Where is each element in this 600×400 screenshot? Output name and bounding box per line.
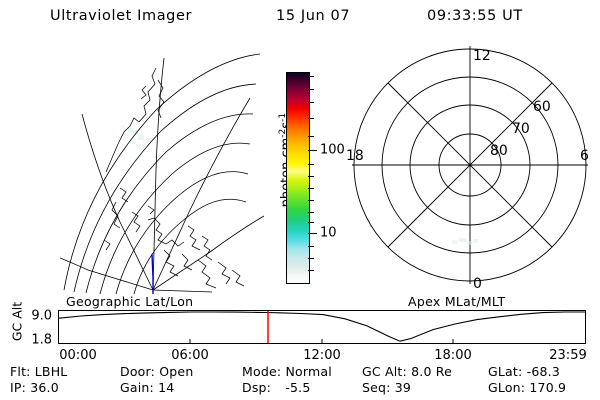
status-door-label: Door: <box>120 364 155 379</box>
status-dsp-value: -5.5 <box>285 380 310 395</box>
status-glat-value: -68.3 <box>527 364 560 379</box>
status-gain-label: Gain: <box>120 380 154 395</box>
status-door: Door: Open <box>120 364 193 379</box>
status-seq-value: 39 <box>395 380 411 395</box>
polar-aurora-pixels <box>452 238 478 245</box>
status-glon-label: GLon: <box>488 380 525 395</box>
status-gc-alt-label: GC Alt: <box>362 364 407 379</box>
orbit-plot-frame[interactable] <box>58 310 586 344</box>
colorbar-tick-minor <box>308 136 314 137</box>
colorbar-tick-minor <box>308 246 314 247</box>
colorbar-tick-minor <box>308 188 314 189</box>
status-gain-value: 14 <box>158 380 174 395</box>
polar-grid: 12 6 0 18 60 70 80 <box>340 40 600 295</box>
orbit-xtick-0600: 06:00 <box>171 348 208 363</box>
status-door-value: Open <box>159 364 193 379</box>
status-dsp-label: Dsp: <box>242 380 271 395</box>
orbit-altitude-plot[interactable]: GC Alt 9.0 1.8 00:00 06:00 12:00 18:00 2… <box>0 306 600 356</box>
status-ip-label: IP: <box>10 380 26 395</box>
geographic-image-panel[interactable] <box>60 40 265 295</box>
status-mode-label: Mode: <box>242 364 281 379</box>
polar-label-mlt-0: 0 <box>473 276 482 292</box>
colorbar-tick-minor <box>308 270 314 271</box>
uv-imager-window: Ultraviolet Imager 15 Jun 07 09:33:55 UT <box>0 0 600 400</box>
instrument-title: Ultraviolet Imager <box>50 8 192 24</box>
colorbar-tick-minor <box>308 176 314 177</box>
colorbar-tick-minor <box>308 102 314 103</box>
status-seq: Seq: 39 <box>362 380 411 395</box>
orbit-ylabel-wrap: GC Alt <box>0 314 20 354</box>
colorbar-tick-minor <box>308 200 314 201</box>
geographic-projection <box>60 40 265 295</box>
status-ip-value: 36.0 <box>30 380 59 395</box>
orbit-xtick-1800: 18:00 <box>434 348 471 363</box>
polar-label-mlt-18: 18 <box>346 148 364 164</box>
colorbar-tick-major-100 <box>308 150 317 151</box>
polar-label-mlat-80: 80 <box>490 143 508 159</box>
status-mode: Mode: Normal <box>242 364 332 379</box>
orbit-xtick-2359: 23:59 <box>549 348 586 363</box>
polar-mlt-panel[interactable]: 12 6 0 18 60 70 80 <box>340 40 600 295</box>
observation-date: 15 Jun 07 <box>276 8 350 24</box>
status-dsp: Dsp: -5.5 <box>242 380 310 395</box>
polar-label-mlat-70: 70 <box>512 121 530 137</box>
status-glon: GLon: 170.9 <box>488 380 566 395</box>
status-glat: GLat: -68.3 <box>488 364 560 379</box>
colorbar-tick-minor <box>308 118 314 119</box>
status-glon-value: 170.9 <box>529 380 566 395</box>
polar-label-mlat-60: 60 <box>533 99 551 115</box>
colorbar-tick-minor <box>308 212 314 213</box>
status-seq-label: Seq: <box>362 380 391 395</box>
status-gc-alt-value: 8.0 Re <box>411 364 452 379</box>
status-filter: Flt: LBHL <box>10 364 67 379</box>
header-bar: Ultraviolet Imager 15 Jun 07 09:33:55 UT <box>0 8 600 32</box>
colorbar-tick-major-10 <box>308 233 317 234</box>
colorbar-tick-label-10: 10 <box>320 226 337 241</box>
colorbar-tick-minor <box>308 164 314 165</box>
polar-label-mlt-6: 6 <box>580 148 589 164</box>
aurora-emission-pixels <box>121 125 152 149</box>
status-ip: IP: 36.0 <box>10 380 59 395</box>
polar-label-mlt-12: 12 <box>473 48 491 64</box>
status-filter-value: LBHL <box>35 364 68 379</box>
orbit-ytick-bottom: 1.8 <box>18 333 52 348</box>
orbit-xtick-0000: 00:00 <box>59 348 96 363</box>
status-gain: Gain: 14 <box>120 380 174 395</box>
orbit-ytick-top: 9.0 <box>18 309 52 324</box>
colorbar-gradient[interactable] <box>286 72 310 284</box>
colorbar-tick-minor <box>308 258 314 259</box>
status-glat-label: GLat: <box>488 364 522 379</box>
observation-time: 09:33:55 UT <box>427 8 523 24</box>
colorbar-tick-minor <box>308 89 314 90</box>
orbit-altitude-trace <box>59 311 585 343</box>
coastlines <box>104 68 244 288</box>
colorbar-tick-minor <box>308 76 314 77</box>
status-readout: Flt: LBHL Door: Open Mode: Normal GC Alt… <box>0 364 600 398</box>
status-filter-label: Flt: <box>10 364 31 379</box>
orbit-xtick-1200: 12:00 <box>303 348 340 363</box>
colorbar-group: photon cm-2s-1 100 10 <box>262 60 340 295</box>
status-gc-alt: GC Alt: 8.0 Re <box>362 364 452 379</box>
colorbar-tick-minor <box>308 222 314 223</box>
status-mode-value: Normal <box>285 364 331 379</box>
